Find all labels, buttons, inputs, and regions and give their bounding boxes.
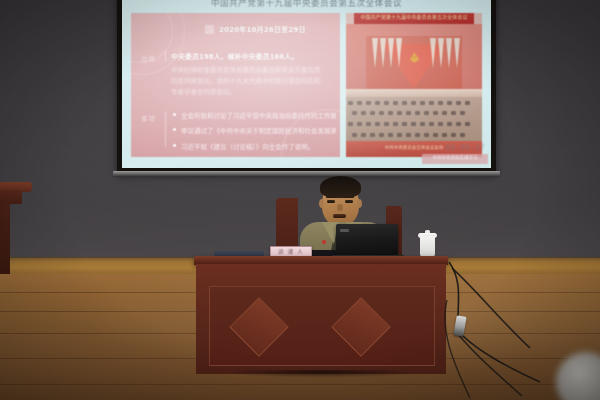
slide-attendance-line-2: 中央纪律检查委员会常务委员会委员和有关方面负责 <box>171 64 321 74</box>
slide-timer-caption-badge: 中共中央党校在线学习 <box>422 154 488 164</box>
hall-podium-row <box>346 89 482 97</box>
bullet-dot-icon <box>173 113 176 116</box>
speaker-ear-left <box>319 199 324 208</box>
slide-timer-caption: 中共中央党校在线学习 <box>422 154 488 164</box>
hall-banner-text: 中国共产党第十九届中央委员会第五次全体会议 <box>354 14 474 21</box>
slide-attendance-line-3: 同志列席会议。党的十九大代表中的部分基层同志和 <box>171 75 321 85</box>
slide-text-panel: 2020年10月26日至29日 出席 中央委员198人，候补中央委员166人。 … <box>131 13 340 157</box>
party-emblem-icon <box>406 50 423 66</box>
slide-title: 中国共产党第十九届中央委员会第五次全体会议 <box>122 0 491 9</box>
hall-banner: 中国共产党第十九届中央委员会第五次全体会议 <box>354 13 474 24</box>
podium-shadow <box>196 370 448 378</box>
speaker-hair <box>320 176 361 198</box>
speaker-lapel-badge-icon <box>322 240 326 244</box>
laptop-logo-icon <box>340 229 349 232</box>
hall-delegate-seating <box>346 97 482 141</box>
bullet-dot-icon <box>173 144 176 147</box>
slide-bullet-1: 全会听取和讨论了习近平受中央政治局委托作的工作报告； <box>181 110 336 120</box>
projection-screen: 中国共产党第十九届中央委员会第五次全体会议 2020年10月26日至29日 出席… <box>122 0 491 168</box>
left-furniture-leg <box>0 204 10 274</box>
slide-section-rule-attendance <box>165 51 166 62</box>
slide-date: 2020年10月26日至29日 <box>219 25 306 35</box>
speaker-ear-right <box>357 199 362 208</box>
speaker-brow-left <box>326 196 336 198</box>
slide-timer: 00:00:37 <box>446 143 485 152</box>
hall-stage <box>346 24 482 92</box>
slide-section-rule-matters <box>165 111 166 147</box>
slide-section-label-matters: 事项 <box>141 113 156 123</box>
slide-section-label-attendance: 出席 <box>141 53 156 63</box>
slide-attendance-line-1: 中央委员198人，候补中央委员166人。 <box>171 52 298 62</box>
slide-date-marker <box>205 25 214 34</box>
speaker-eye-left <box>327 200 335 203</box>
slide-bullet-3: 习近平就《建议（讨论稿）》向全会作了说明。 <box>181 141 336 151</box>
photo-scene: 中国共产党第十九届中央委员会第五次全体会议 2020年10月26日至29日 出席… <box>0 0 600 400</box>
slide-bullet-2: 审议通过了《中共中央关于制定国民经济和社会发展第十四个五年规划和二〇三五年远景目… <box>181 125 336 135</box>
speaker-nose <box>337 204 343 211</box>
speaker-brow-right <box>344 196 354 198</box>
speaker-eye-right <box>345 200 353 203</box>
slide-attendance-line-4: 专家学者也列席会议。 <box>171 86 236 96</box>
speaker-mouth <box>333 214 346 218</box>
left-furniture-body <box>0 190 22 204</box>
bullet-dot-icon <box>173 128 176 131</box>
slide-photo-conference-hall: 中国共产党第十九届中央委员会第五次全体会议 <box>346 13 482 157</box>
laptop <box>336 224 398 258</box>
teacup <box>420 236 435 257</box>
